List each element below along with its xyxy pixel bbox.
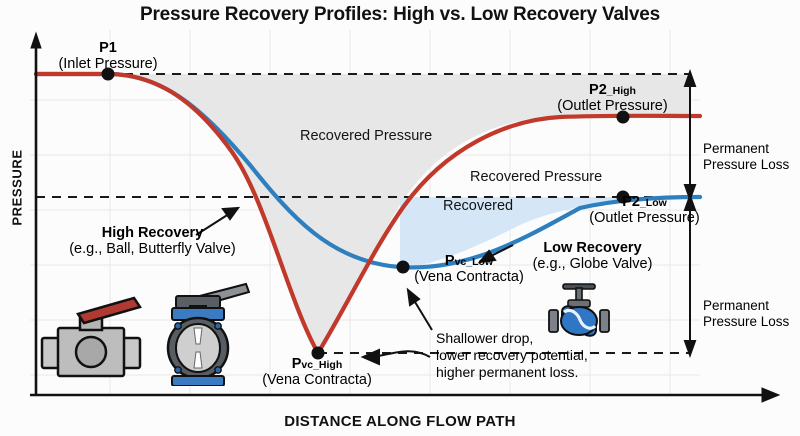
pvc-high-subscript: vc_High [301,359,342,371]
loss-bottom-line2: Pressure Loss [703,314,789,329]
butterfly-valve-icon [150,276,250,386]
x-axis-label: DISTANCE ALONG FLOW PATH [0,413,800,430]
pvc-low-subscript: vc_Low [455,256,494,268]
p2-high-subscript: _High [607,85,636,97]
pvc-high-annotation: Pvc_High (Vena Contracta) [243,356,391,388]
recovered-pressure-region-label: Recovered Pressure [300,128,432,144]
shallower-drop-note: Shallower drop, lower recovery potential… [436,330,666,380]
p2-low-name: P2 [622,194,640,210]
p1-name: P1 [99,40,117,56]
p2-high-annotation: P2_High (Outlet Pressure) [520,82,705,114]
note-line1: Shallower drop, [436,330,533,346]
pvc-low-name: P [445,253,455,269]
p2-low-sub: (Outlet Pressure) [589,210,699,226]
loss-top-line1: Permanent [703,141,769,156]
loss-top-line2: Pressure Loss [703,157,789,172]
ball-valve-icon [36,290,146,385]
low-recovery-title: Low Recovery [543,240,641,256]
chart-canvas: Pressure Recovery Profiles: High vs. Low… [0,0,800,436]
low-recovery-example: (e.g., Globe Valve) [533,256,653,272]
recovered-pressure-low-label: Recovered Pressure [470,169,602,185]
p2-high-name: P2 [589,82,607,98]
p2-low-subscript: _Low [640,197,667,209]
low-recovery-legend: Low Recovery (e.g., Globe Valve) [505,240,680,272]
p2-low-annotation: P2_Low (Outlet Pressure) [562,194,727,226]
p2-high-sub: (Outlet Pressure) [557,98,667,114]
page-title: Pressure Recovery Profiles: High vs. Low… [0,4,800,26]
pvc-high-name: P [292,356,302,372]
p1-annotation: P1 (Inlet Pressure) [33,40,183,72]
high-recovery-legend: High Recovery (e.g., Ball, Butterfly Val… [45,225,260,257]
permanent-loss-top-label: Permanent Pressure Loss [703,141,800,173]
y-axis-label: PRESSURE [10,133,25,243]
loss-bottom-line1: Permanent [703,298,769,313]
p1-sub: (Inlet Pressure) [58,56,157,72]
high-recovery-example: (e.g., Ball, Butterfly Valve) [69,241,236,257]
permanent-loss-bottom-label: Permanent Pressure Loss [703,298,800,330]
x-axis-arrow [762,388,779,402]
high-recovery-title: High Recovery [102,225,204,241]
recovered-region-label: Recovered [443,198,513,214]
pvc-high-sub: (Vena Contracta) [262,372,372,388]
note-line2: lower recovery potential, [436,347,588,363]
note-line3: higher permanent loss. [436,364,578,380]
